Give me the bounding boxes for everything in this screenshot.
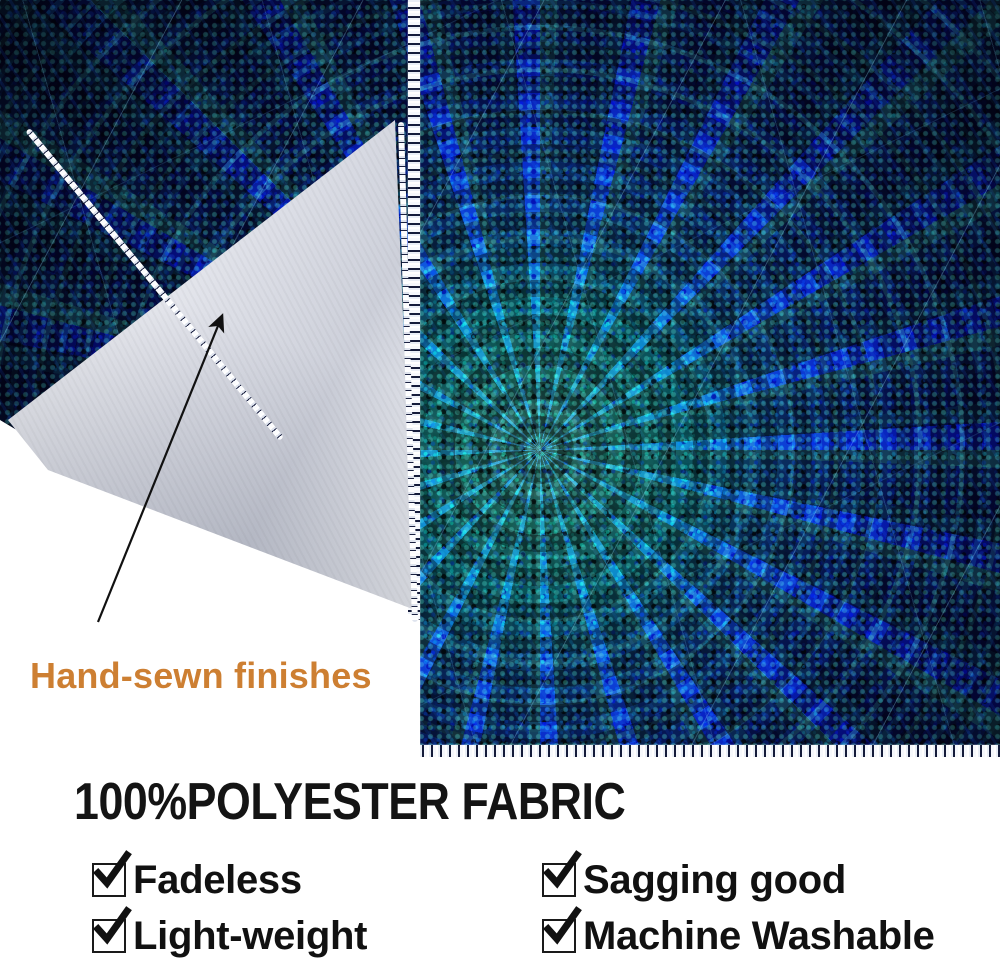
page-title: 100%POLYESTER FABRIC: [74, 772, 625, 832]
feature-label: Machine Washable: [583, 914, 935, 959]
feature-label: Sagging good: [583, 858, 846, 903]
feature-label: Light-weight: [133, 914, 367, 959]
feature-item-light-weight: Light-weight: [92, 914, 542, 959]
checked-box-icon: [92, 919, 126, 953]
hand-sewn-callout: Hand-sewn finishes: [30, 655, 372, 697]
checked-box-icon: [542, 863, 576, 897]
checked-box-icon: [542, 919, 576, 953]
feature-label: Fadeless: [133, 858, 302, 903]
feature-item-sagging-good: Sagging good: [542, 858, 992, 903]
feature-list: Fadeless Sagging good Light-weight Machi…: [92, 852, 972, 964]
feature-item-machine-washable: Machine Washable: [542, 914, 992, 959]
fabric-photo: [0, 0, 1000, 760]
pointer-arrow-icon: [0, 0, 1000, 760]
product-feature-image: Hand-sewn finishes 100%POLYESTER FABRIC …: [0, 0, 1000, 977]
checked-box-icon: [92, 863, 126, 897]
feature-item-fadeless: Fadeless: [92, 858, 542, 903]
